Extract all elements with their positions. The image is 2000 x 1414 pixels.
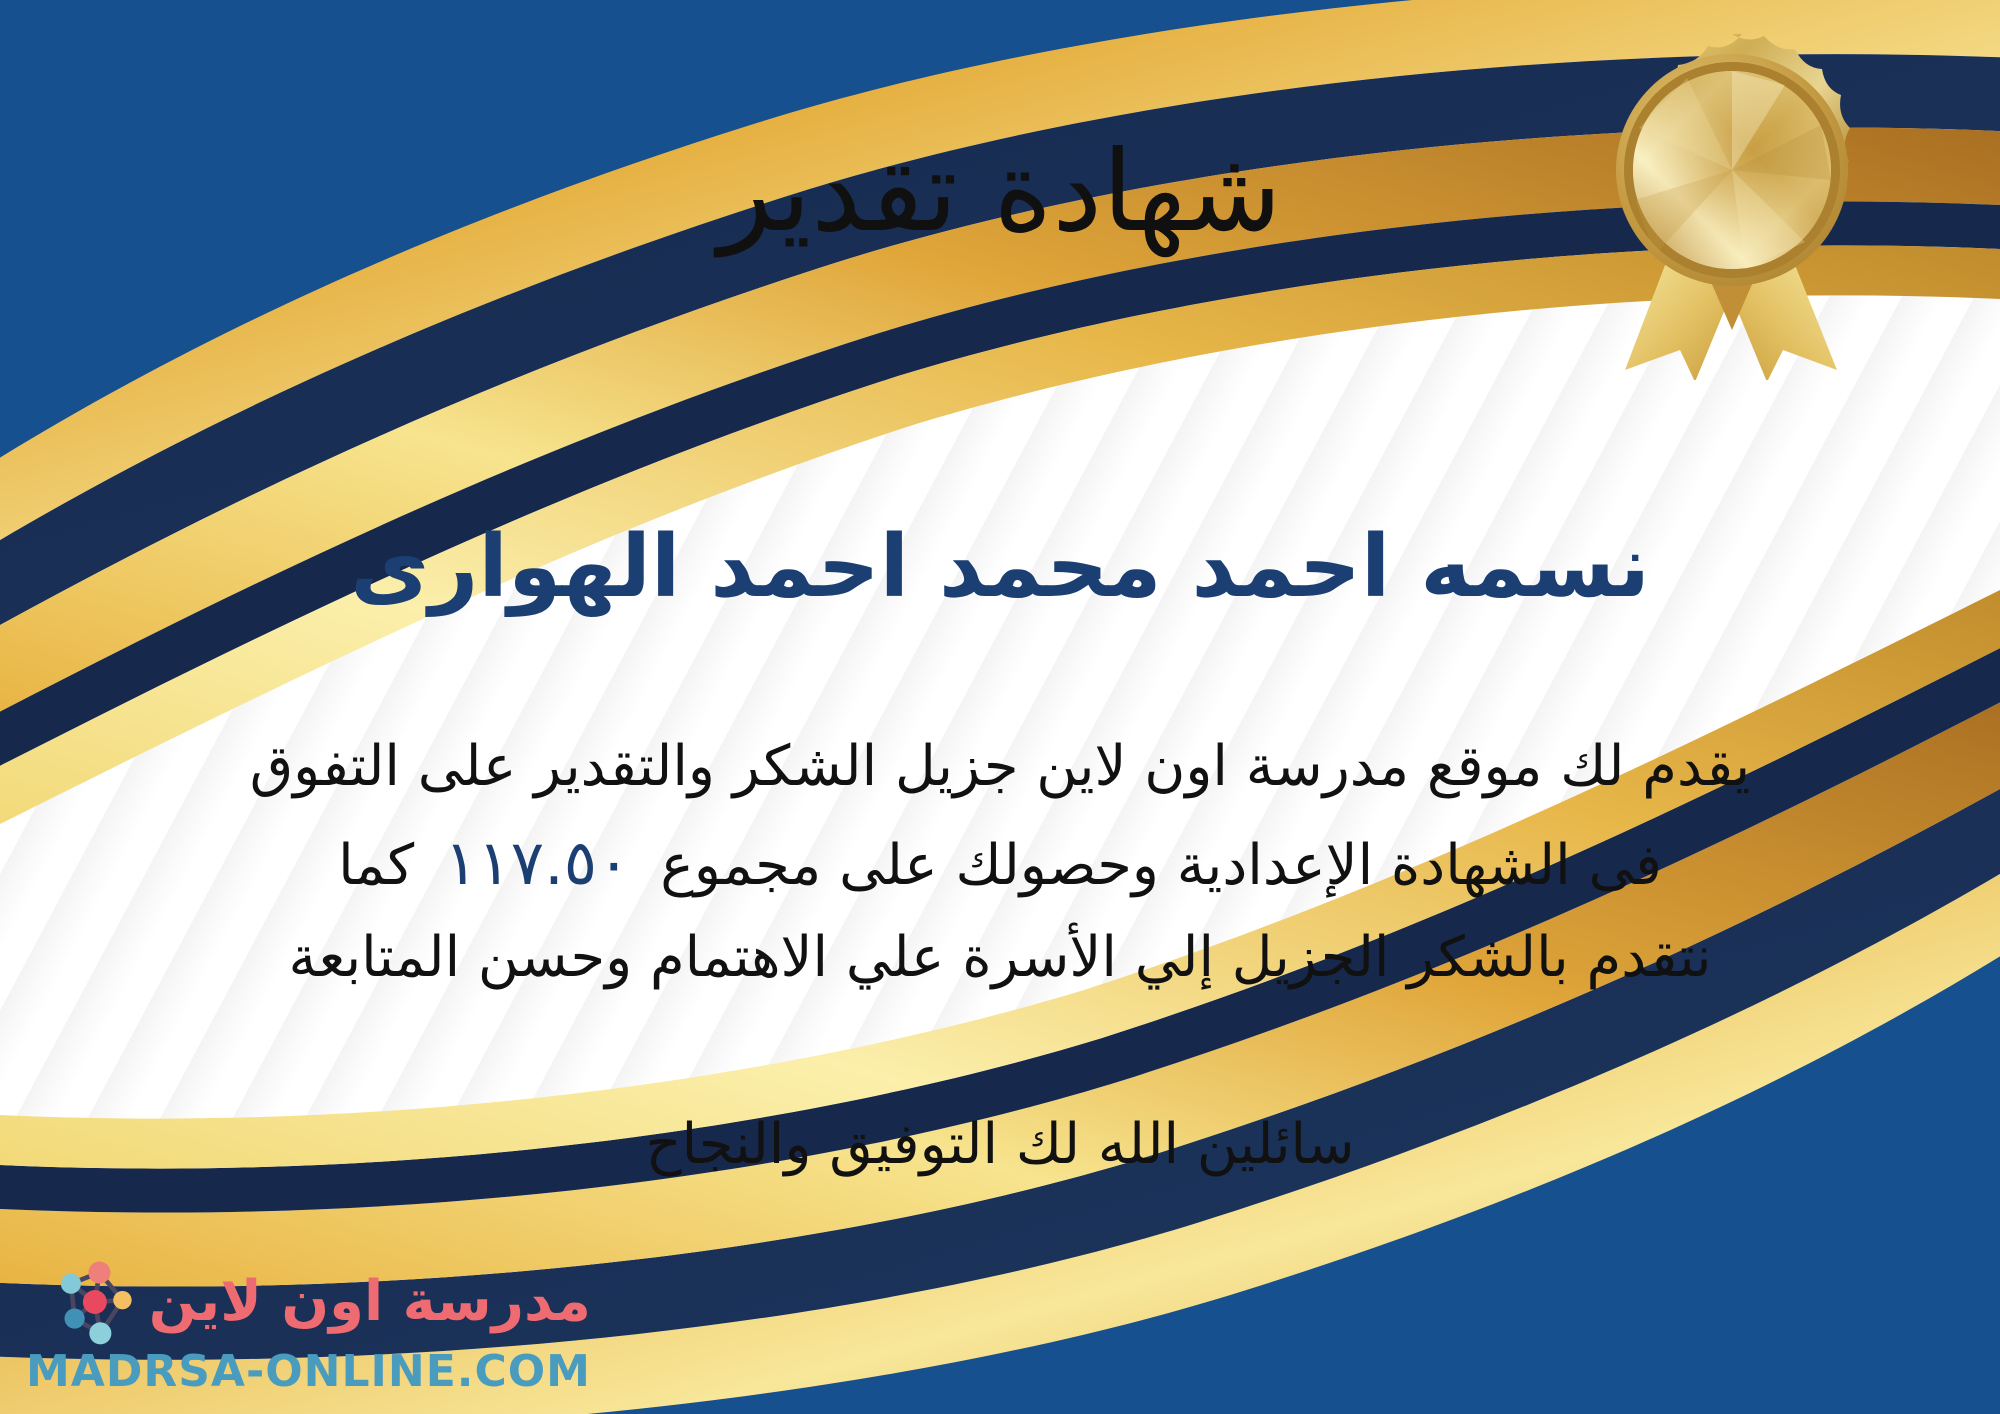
body-line-2: فى الشهادة الإعدادية وحصولك على مجموع١١٧… — [70, 813, 1930, 913]
closing-wish-line: سائلين الله لك التوفيق والنجاح — [0, 1112, 2000, 1177]
body-line-2-prefix: فى الشهادة الإعدادية وحصولك على مجموع — [660, 833, 1662, 898]
total-score-value: ١١٧.٥٠ — [414, 826, 660, 899]
body-line-2-suffix: كما — [338, 833, 414, 898]
site-logo[interactable]: مدرسة اون لاين — [26, 1256, 591, 1396]
logo-website-url: MADRSA-ONLINE.COM — [26, 1348, 591, 1396]
logo-top-row: مدرسة اون لاين — [47, 1256, 591, 1348]
body-line-3: نتقدم بالشكر الجزيل إلي الأسرة علي الاهت… — [70, 913, 1930, 1004]
page-title: شهادة تقدير — [0, 128, 2000, 257]
certificate-content: شهادة تقدير نسمه احمد محمد احمد الهوارى … — [0, 0, 2000, 1414]
certificate-body: يقدم لك موقع مدرسة اون لاين جزيل الشكر و… — [70, 722, 1930, 1004]
logo-arabic-text: مدرسة اون لاين — [149, 1274, 591, 1330]
student-name: نسمه احمد محمد احمد الهوارى — [0, 516, 2000, 619]
certificate-canvas: شهادة تقدير نسمه احمد محمد احمد الهوارى … — [0, 0, 2000, 1414]
network-nodes-icon — [47, 1256, 139, 1348]
body-line-1: يقدم لك موقع مدرسة اون لاين جزيل الشكر و… — [70, 722, 1930, 813]
